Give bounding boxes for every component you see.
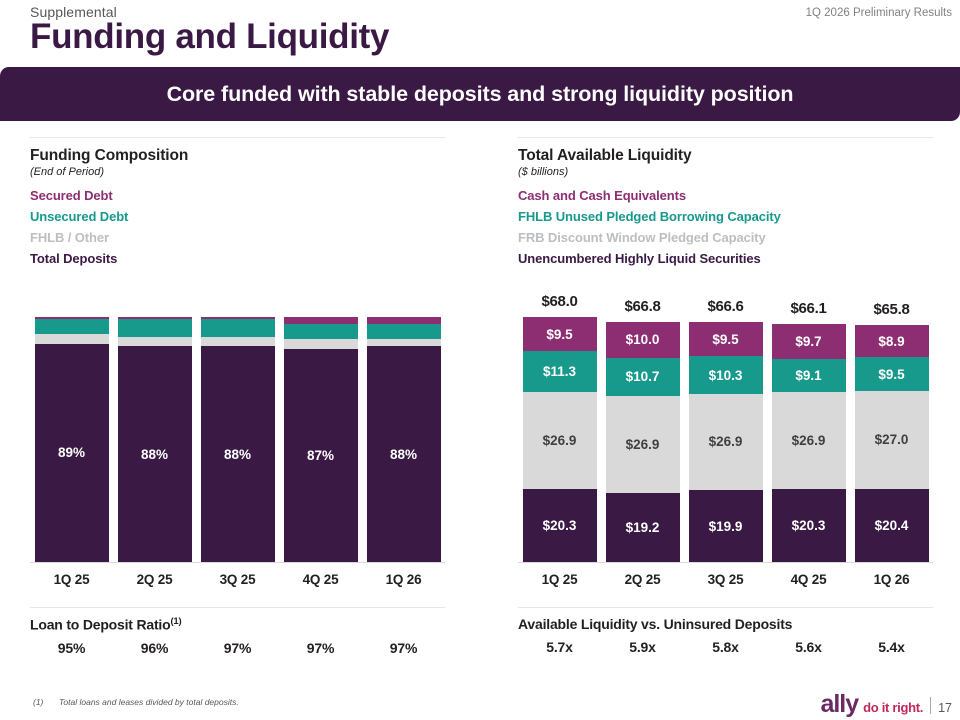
metric-values-liquidity-ratio: 5.7x5.9x5.8x5.6x5.4x: [518, 639, 933, 655]
legend-funding: Secured Debt Unsecured Debt FHLB / Other…: [30, 185, 445, 269]
stacked-bar: $9.7$9.1$26.9$20.3: [772, 324, 846, 562]
bar-segment: 88%: [367, 346, 441, 562]
category-label: 4Q 25: [279, 572, 362, 587]
metric-value: 5.7x: [518, 639, 601, 655]
bar-total-label: $66.6: [707, 298, 743, 315]
bar-segment: $9.7: [772, 324, 846, 359]
legend-item-secured-debt: Secured Debt: [30, 185, 445, 206]
bar-segment: [201, 337, 275, 347]
bar-segment: [367, 339, 441, 346]
category-label: 3Q 25: [684, 572, 767, 587]
bar-segment: $10.7: [606, 358, 680, 397]
bar-segment: $19.9: [689, 490, 763, 562]
panel-subtitle-funding: (End of Period): [30, 166, 445, 178]
axis-baseline: [518, 562, 933, 563]
metric-value: 5.9x: [601, 639, 684, 655]
metric-value: 96%: [113, 640, 196, 656]
divider: [518, 137, 933, 138]
legend-item-total-deposits: Total Deposits: [30, 248, 445, 269]
bar-segment: [35, 334, 109, 344]
headline-banner-text: Core funded with stable deposits and str…: [167, 82, 794, 107]
category-labels-funding: 1Q 252Q 253Q 254Q 251Q 26: [30, 572, 445, 587]
bar-slot: $68.0$9.5$11.3$26.9$20.3: [518, 313, 601, 562]
bar-segment: $9.5: [855, 357, 929, 391]
bar-segment: [284, 339, 358, 349]
panel-title-funding: Funding Composition: [30, 147, 445, 165]
metric-title-liquidity-ratio: Available Liquidity vs. Uninsured Deposi…: [518, 616, 933, 632]
metric-title-loan-to-deposit: Loan to Deposit Ratio(1): [30, 616, 445, 633]
bar-segment: $8.9: [855, 325, 929, 357]
bar-segment: $26.9: [689, 394, 763, 491]
stacked-bar: 88%: [201, 317, 275, 562]
funding-composition-panel: Funding Composition (End of Period) Secu…: [30, 137, 445, 269]
legend-item-cash-equivalents: Cash and Cash Equivalents: [518, 185, 933, 206]
axis-baseline: [30, 562, 445, 563]
legend-item-unencumbered: Unencumbered Highly Liquid Securities: [518, 248, 933, 269]
loan-to-deposit-block: Loan to Deposit Ratio(1) 95%96%97%97%97%: [30, 607, 445, 656]
bar-slot: 89%: [30, 313, 113, 562]
bar-group-funding: 89%88%88%87%88%: [30, 313, 445, 562]
legend-item-fhlb-unused: FHLB Unused Pledged Borrowing Capacity: [518, 206, 933, 227]
legend-item-frb-discount: FRB Discount Window Pledged Capacity: [518, 227, 933, 248]
logo-divider: [930, 697, 931, 714]
bar-slot: $65.8$8.9$9.5$27.0$20.4: [850, 313, 933, 562]
footnote-text: Total loans and leases divided by total …: [59, 697, 239, 707]
stacked-bar: 89%: [35, 317, 109, 562]
metric-values-loan-to-deposit: 95%96%97%97%97%: [30, 640, 445, 656]
metric-value: 5.6x: [767, 639, 850, 655]
bar-slot: 88%: [113, 313, 196, 562]
metric-value: 97%: [196, 640, 279, 656]
bar-slot: $66.6$9.5$10.3$26.9$19.9: [684, 313, 767, 562]
footnote-mark: (1): [33, 697, 59, 707]
legend-liquidity: Cash and Cash Equivalents FHLB Unused Pl…: [518, 185, 933, 269]
panel-title-liquidity: Total Available Liquidity: [518, 147, 933, 165]
metric-value: 97%: [362, 640, 445, 656]
bar-segment: $26.9: [772, 392, 846, 489]
bar-slot: 87%: [279, 313, 362, 562]
bar-segment: $20.3: [523, 489, 597, 562]
category-label: 1Q 25: [30, 572, 113, 587]
slide: Supplemental Funding and Liquidity 1Q 20…: [0, 0, 960, 720]
category-label: 1Q 26: [362, 572, 445, 587]
bar-segment: $27.0: [855, 391, 929, 488]
bar-segment: [284, 317, 358, 324]
category-label: 2Q 25: [601, 572, 684, 587]
footnote-ref: (1): [170, 616, 181, 627]
metric-title-text: Loan to Deposit Ratio: [30, 617, 170, 633]
bar-slot: $66.8$10.0$10.7$26.9$19.2: [601, 313, 684, 562]
divider: [30, 137, 445, 138]
stacked-bar: 87%: [284, 317, 358, 562]
metric-value: 5.8x: [684, 639, 767, 655]
stacked-bar: 88%: [367, 317, 441, 562]
metric-value: 97%: [279, 640, 362, 656]
total-available-liquidity-panel: Total Available Liquidity ($ billions) C…: [518, 137, 933, 269]
headline-banner: Core funded with stable deposits and str…: [0, 67, 960, 121]
chart-funding-composition: 89%88%88%87%88%: [30, 313, 445, 563]
bar-segment: [118, 337, 192, 347]
bar-segment: 87%: [284, 349, 358, 562]
category-label: 3Q 25: [196, 572, 279, 587]
logo-wordmark: ally: [820, 690, 858, 719]
bar-total-label: $65.8: [873, 301, 909, 318]
bar-segment: $19.2: [606, 493, 680, 562]
stacked-bar: $9.5$10.3$26.9$19.9: [689, 322, 763, 562]
brand-logo: ally do it right. 17: [820, 690, 952, 719]
metric-value: 5.4x: [850, 639, 933, 655]
bar-segment: [201, 319, 275, 336]
bar-segment: $26.9: [523, 392, 597, 489]
bar-total-label: $66.1: [790, 300, 826, 317]
stacked-bar: $10.0$10.7$26.9$19.2: [606, 322, 680, 562]
stacked-bar: $8.9$9.5$27.0$20.4: [855, 325, 929, 562]
bar-total-label: $68.0: [541, 293, 577, 310]
bar-segment: 88%: [201, 346, 275, 562]
bar-segment: $9.5: [523, 317, 597, 351]
bar-segment: [118, 319, 192, 336]
category-label: 2Q 25: [113, 572, 196, 587]
bar-slot: 88%: [196, 313, 279, 562]
panel-subtitle-liquidity: ($ billions): [518, 166, 933, 178]
bar-segment: [367, 317, 441, 324]
bar-segment: $9.1: [772, 359, 846, 392]
bar-slot: $66.1$9.7$9.1$26.9$20.3: [767, 313, 850, 562]
footnote: (1)Total loans and leases divided by tot…: [33, 697, 239, 707]
bar-segment: 88%: [118, 346, 192, 562]
category-labels-liquidity: 1Q 252Q 253Q 254Q 251Q 26: [518, 572, 933, 587]
bar-segment: $20.4: [855, 489, 929, 562]
bar-segment: $10.0: [606, 322, 680, 358]
deck-tag: 1Q 2026 Preliminary Results: [806, 7, 952, 19]
bar-segment: $9.5: [689, 322, 763, 356]
bar-segment: $11.3: [523, 351, 597, 392]
legend-item-unsecured-debt: Unsecured Debt: [30, 206, 445, 227]
divider: [30, 607, 445, 608]
bar-segment: [367, 324, 441, 339]
divider: [518, 607, 933, 608]
chart-total-available-liquidity: $68.0$9.5$11.3$26.9$20.3$66.8$10.0$10.7$…: [518, 313, 933, 563]
stacked-bar: 88%: [118, 317, 192, 562]
logo-tagline: do it right.: [863, 700, 923, 715]
category-label: 1Q 25: [518, 572, 601, 587]
stacked-bar: $9.5$11.3$26.9$20.3: [523, 317, 597, 562]
legend-item-fhlb-other: FHLB / Other: [30, 227, 445, 248]
bar-segment: 89%: [35, 344, 109, 562]
bar-group-liquidity: $68.0$9.5$11.3$26.9$20.3$66.8$10.0$10.7$…: [518, 313, 933, 562]
category-label: 4Q 25: [767, 572, 850, 587]
bar-segment: $26.9: [606, 396, 680, 493]
page-title: Funding and Liquidity: [30, 17, 389, 57]
bar-total-label: $66.8: [624, 298, 660, 315]
category-label: 1Q 26: [850, 572, 933, 587]
available-liquidity-ratio-block: Available Liquidity vs. Uninsured Deposi…: [518, 607, 933, 655]
bar-segment: [284, 324, 358, 339]
bar-segment: $10.3: [689, 356, 763, 393]
metric-value: 95%: [30, 640, 113, 656]
bar-slot: 88%: [362, 313, 445, 562]
bar-segment: $20.3: [772, 489, 846, 562]
bar-segment: [35, 319, 109, 334]
page-number: 17: [938, 701, 952, 715]
